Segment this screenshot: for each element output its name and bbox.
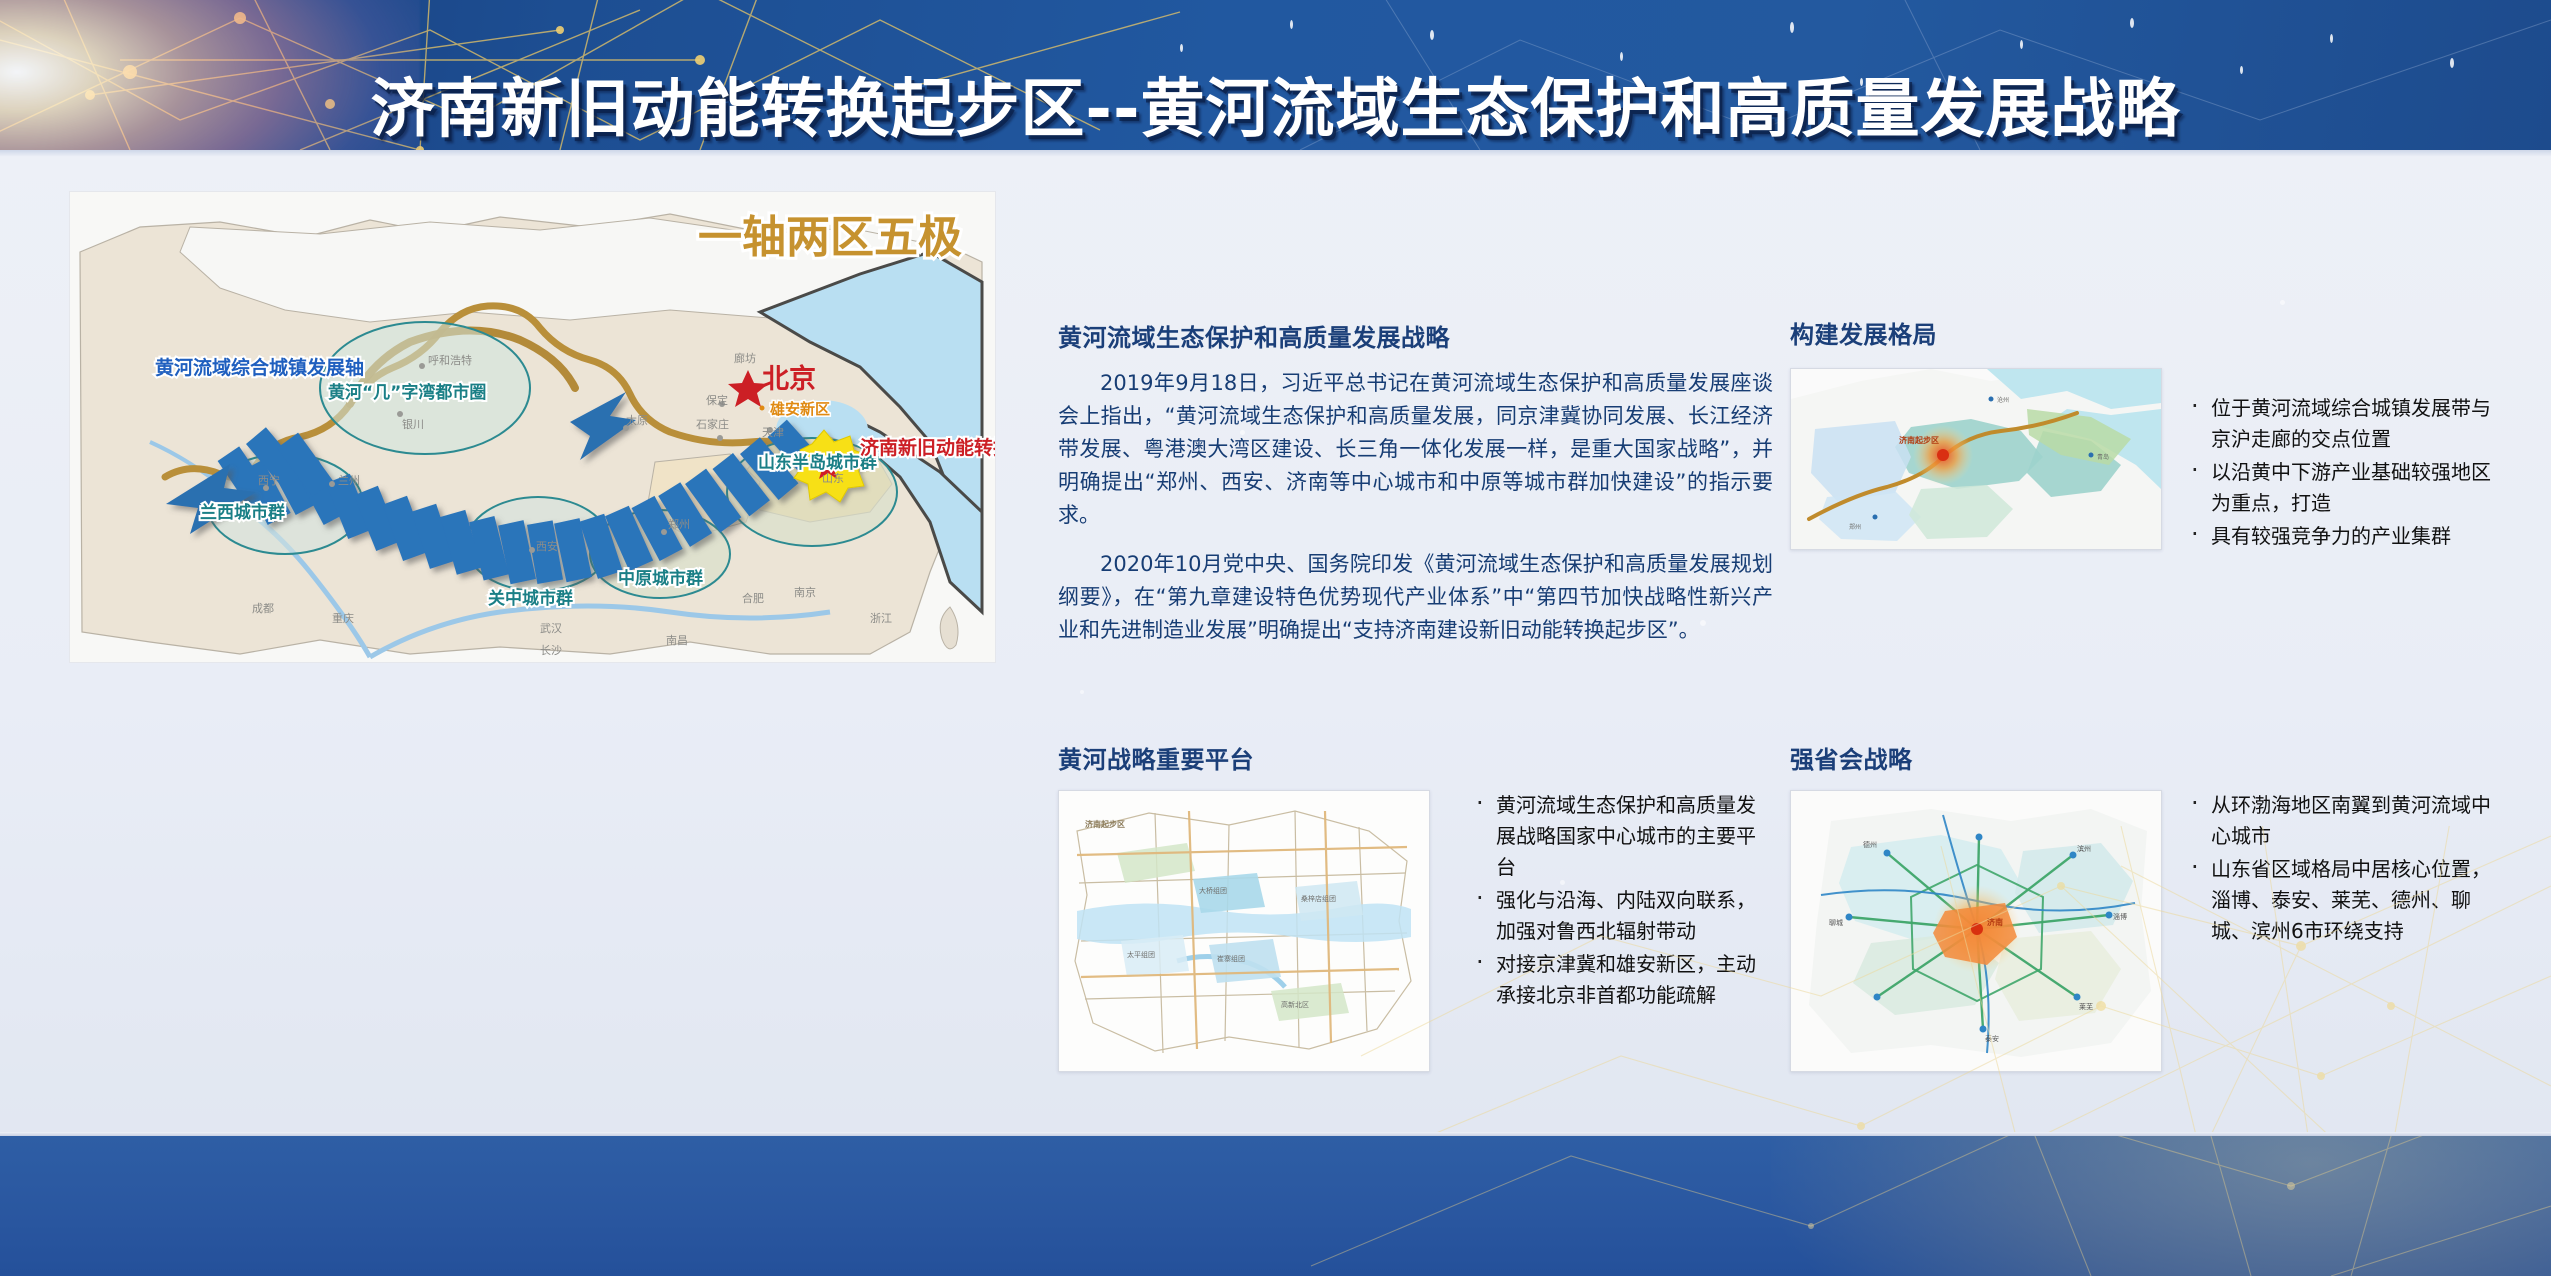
- jinan-start-zone-plan-map: 大桥组团 崔寨组团 桑梓店组团 太平组团 高新北区 济南起步区: [1059, 791, 1429, 1071]
- map-city-huhehaote: 呼和浩特: [428, 353, 472, 367]
- list-item: 位于黄河流域综合城镇发展带与京沪走廊的交点位置: [2185, 393, 2505, 455]
- list-item: 具有较强竞争力的产业集群: [2185, 521, 2505, 552]
- province-bullet-list: 从环渤海地区南翼到黄河流域中心城市 山东省区域格局中居核心位置，淄博、泰安、莱芜…: [2185, 790, 2505, 949]
- map-city-shijiazhuang: 石家庄: [696, 417, 729, 431]
- map-city-shandong: 山东: [822, 472, 844, 485]
- list-item: 以沿黄中下游产业基础较强地区为重点，打造: [2185, 457, 2505, 519]
- map-city-yinchuan: 银川: [402, 417, 424, 431]
- map-capital-label: 北京: [762, 363, 816, 395]
- map-city-wuhan: 武汉: [540, 622, 562, 635]
- thumb-label-daqiao: 大桥组团: [1199, 886, 1227, 895]
- sparkle-dot: [1080, 690, 1084, 694]
- map-cluster-label-1: 关中城市群: [488, 588, 573, 609]
- map-city-nanchang: 南昌: [666, 634, 688, 647]
- map-city-nanjing: 南京: [794, 585, 816, 599]
- map-cluster-label-2: 中原城市群: [618, 568, 703, 589]
- list-item: 强化与沿海、内陆双向联系，加强对鲁西北辐射带动: [1470, 885, 1770, 947]
- header-divider: [0, 150, 2551, 157]
- map-cluster-label-0: 兰西城市群: [200, 502, 285, 523]
- footer-banner: [0, 1136, 2551, 1276]
- strategy-title: 黄河流域生态保护和高质量发展战略: [1058, 318, 1773, 353]
- map-city-langfang: 廊坊: [734, 351, 756, 365]
- map-highlight-label: 济南新旧动能转换起步区: [860, 436, 995, 459]
- map-city-zhengzhou: 郑州: [668, 517, 690, 531]
- map-city-chengdu: 成都: [252, 602, 274, 615]
- thumb-label-binzhou: 滨州: [2077, 844, 2091, 853]
- thumb-label-jinan: 济南: [1987, 917, 2003, 927]
- platform-title: 黄河战略重要平台: [1058, 740, 1254, 775]
- pattern-bullet-list: 位于黄河流域综合城镇发展带与京沪走廊的交点位置 以沿黄中下游产业基础较强地区为重…: [2185, 393, 2505, 554]
- header-banner: 济南新旧动能转换起步区--黄河流域生态保护和高质量发展战略: [0, 0, 2551, 150]
- shandong-provincial-network-map: 德州 滨州 聊城 济南 淄博 泰安 莱芜: [1791, 791, 2161, 1071]
- map-city-chongqing: 重庆: [332, 611, 354, 625]
- province-title: 强省会战略: [1790, 740, 1913, 775]
- thumb-label-zhengzhou: 郑州: [1849, 523, 1861, 531]
- thumb-label-zibo: 淄博: [2113, 912, 2127, 921]
- platform-thumbnail-map: 大桥组团 崔寨组团 桑梓店组团 太平组团 高新北区 济南起步区: [1058, 790, 1430, 1072]
- list-item: 黄河流域生态保护和高质量发展战略国家中心城市的主要平台: [1470, 790, 1770, 883]
- thumb-label-cangzhou: 沧州: [1997, 396, 2009, 404]
- map-xiongan-label: 雄安新区: [769, 400, 830, 418]
- map-city-xining: 西宁: [258, 473, 280, 487]
- thumb-label-sangzidian: 桑梓店组团: [1301, 894, 1336, 903]
- map-city-taiyuan: 太原: [626, 414, 648, 427]
- thumb-label-taiping: 太平组团: [1127, 950, 1155, 959]
- list-item: 对接京津冀和雄安新区，主动承接北京非首都功能疏解: [1470, 949, 1770, 1011]
- map-city-changsha: 长沙: [540, 644, 562, 657]
- pattern-thumbnail-map: 沧州 郑州 青岛 济南起步区: [1790, 368, 2162, 550]
- thumb-label-laiwu: 莱芜: [2079, 1002, 2093, 1011]
- footer-network-graphic: [1151, 1136, 2551, 1276]
- list-item: 从环渤海地区南翼到黄河流域中心城市: [2185, 790, 2505, 852]
- thumb-label-taian: 泰安: [1985, 1034, 1999, 1043]
- strategy-paragraph-2: 2020年10月党中央、国务院印发《黄河流域生态保护和高质量发展规划纲要》，在“…: [1058, 548, 1773, 647]
- map-city-baoding: 保定: [706, 393, 728, 407]
- pattern-title: 构建发展格局: [1790, 315, 1937, 350]
- province-thumbnail-map: 德州 滨州 聊城 济南 淄博 泰安 莱芜: [1790, 790, 2162, 1072]
- thumb-label-qingdao: 青岛: [2097, 453, 2109, 461]
- platform-bullet-list: 黄河流域生态保护和高质量发展战略国家中心城市的主要平台 强化与沿海、内陆双向联系…: [1470, 790, 1770, 1013]
- strategy-section: 黄河流域生态保护和高质量发展战略 2019年9月18日，习近平总书记在黄河流域生…: [1058, 318, 1773, 647]
- page-title: 济南新旧动能转换起步区--黄河流域生态保护和高质量发展战略: [0, 58, 2551, 150]
- map-city-tianjin: 天津: [762, 426, 784, 439]
- thumb-label-jinan-start-zone: 济南起步区: [1085, 819, 1125, 829]
- thumb-label-liaocheng: 聊城: [1829, 918, 1843, 927]
- sparkle-dot: [2280, 300, 2285, 305]
- map-overlay-title: 一轴两区五极: [698, 212, 962, 263]
- map-axis-label: 黄河流域综合城镇发展轴: [155, 356, 364, 379]
- thumb-label-jinan-start: 济南起步区: [1899, 435, 1939, 445]
- map-city-zhejiang: 浙江: [870, 612, 892, 625]
- map-city-hefei: 合肥: [742, 591, 764, 605]
- thumb-label-gaoxinbeiqu: 高新北区: [1281, 1000, 1309, 1009]
- list-item: 山东省区域格局中居核心位置，淄博、泰安、莱芜、德州、聊城、滨州6市环绕支持: [2185, 854, 2505, 947]
- thumb-label-dezhou: 德州: [1863, 840, 1877, 849]
- map-city-xian: 西安: [536, 539, 558, 553]
- thumb-label-cuizhai: 崔寨组团: [1217, 954, 1245, 963]
- yellow-river-basin-map: 一轴两区五极 黄河流域综合城镇发展轴 黄河“几”字湾都市圈 兰西城市群 关中城市…: [70, 192, 995, 662]
- strategy-paragraph-1: 2019年9月18日，习近平总书记在黄河流域生态保护和高质量发展座谈会上指出，“…: [1058, 367, 1773, 532]
- map-city-lanzhou: 兰州: [338, 474, 360, 487]
- map-zone-label-0: 黄河“几”字湾都市圈: [328, 382, 486, 403]
- shandong-region-map: 沧州 郑州 青岛 济南起步区: [1791, 369, 2161, 549]
- slide-root: 济南新旧动能转换起步区--黄河流域生态保护和高质量发展战略: [0, 0, 2551, 1276]
- main-map-panel: 一轴两区五极 黄河流域综合城镇发展轴 黄河“几”字湾都市圈 兰西城市群 关中城市…: [70, 192, 995, 662]
